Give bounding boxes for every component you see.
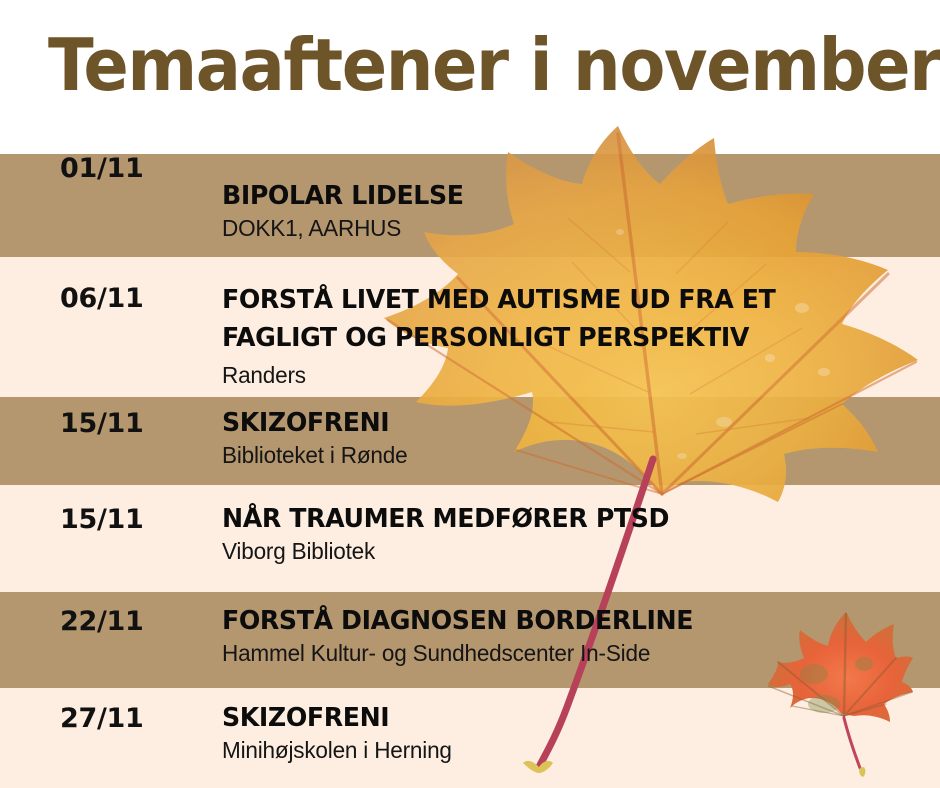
band-header-white [0, 0, 940, 154]
event-body: SKIZOFRENI Biblioteket i Rønde [222, 407, 922, 469]
event-body: SKIZOFRENI Minihøjskolen i Herning [222, 702, 922, 764]
event-body: FORSTÅ LIVET MED AUTISME UD FRA ET FAGLI… [222, 281, 922, 389]
event-body: NÅR TRAUMER MEDFØRER PTSD Viborg Bibliot… [222, 503, 922, 565]
event-title: SKIZOFRENI [222, 702, 901, 734]
event-date: 06/11 [60, 284, 210, 314]
event-title: SKIZOFRENI [222, 407, 901, 439]
event-date: 15/11 [60, 409, 210, 439]
event-title: NÅR TRAUMER MEDFØRER PTSD [222, 503, 901, 535]
event-row-4: 15/11 NÅR TRAUMER MEDFØRER PTSD Viborg B… [0, 485, 940, 592]
poster-canvas: Temaaftener i november 01/11 BIPOLAR LID… [0, 0, 940, 788]
event-venue: Randers [222, 361, 908, 389]
event-row-3: 15/11 SKIZOFRENI Biblioteket i Rønde [0, 397, 940, 485]
event-row-6: 27/11 SKIZOFRENI Minihøjskolen i Herning [0, 688, 940, 788]
event-date: 22/11 [60, 607, 210, 637]
event-venue: DOKK1, AARHUS [222, 214, 908, 242]
event-title: FORSTÅ DIAGNOSEN BORDERLINE [222, 605, 901, 637]
event-body: FORSTÅ DIAGNOSEN BORDERLINE Hammel Kultu… [222, 605, 922, 667]
event-body: BIPOLAR LIDELSE DOKK1, AARHUS [222, 180, 922, 242]
event-venue: Hammel Kultur- og Sundhedscenter In-Side [222, 639, 908, 667]
event-date: 01/11 [60, 154, 210, 184]
event-date: 15/11 [60, 505, 210, 535]
event-row-1: 01/11 BIPOLAR LIDELSE DOKK1, AARHUS [0, 154, 940, 257]
event-title: BIPOLAR LIDELSE [222, 180, 901, 212]
event-venue: Viborg Bibliotek [222, 537, 908, 565]
event-title: FORSTÅ LIVET MED AUTISME UD FRA ET FAGLI… [222, 281, 901, 357]
event-row-5: 22/11 FORSTÅ DIAGNOSEN BORDERLINE Hammel… [0, 592, 940, 688]
event-venue: Biblioteket i Rønde [222, 441, 908, 469]
event-row-2: 06/11 FORSTÅ LIVET MED AUTISME UD FRA ET… [0, 257, 940, 397]
event-venue: Minihøjskolen i Herning [222, 736, 908, 764]
event-date: 27/11 [60, 704, 210, 734]
